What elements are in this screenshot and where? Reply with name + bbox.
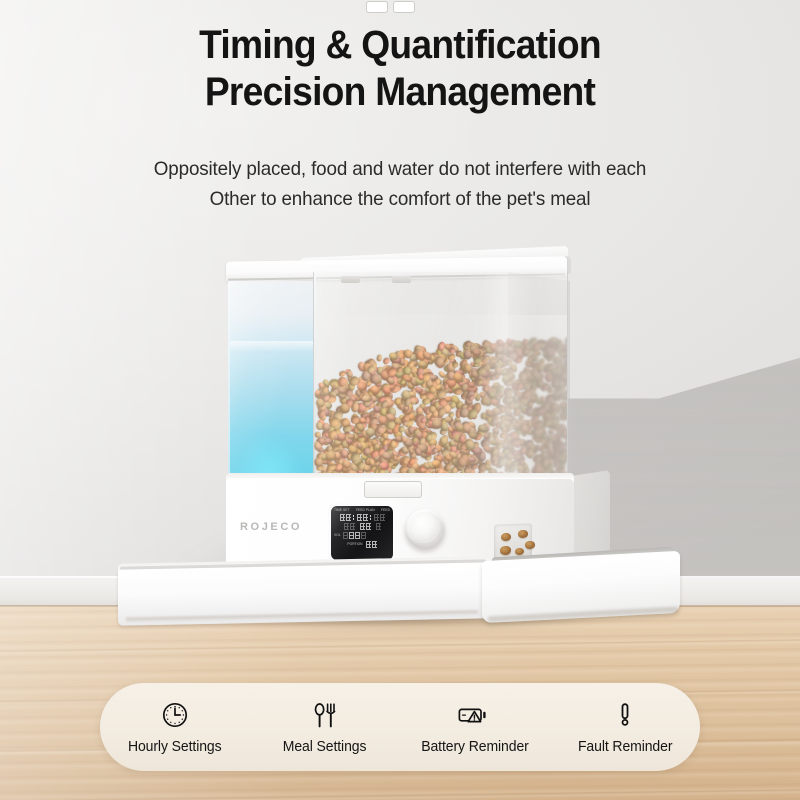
kibble-pellet (532, 355, 538, 363)
kibble-pellet (521, 338, 528, 345)
kibble-pellet (480, 397, 487, 405)
kibble-pellet (315, 431, 321, 437)
feature-label: Battery Reminder (421, 739, 528, 755)
kibble-pellet (348, 433, 355, 438)
lcd-display[interactable]: TIME SET FEED PLAN FEED VOL (331, 506, 393, 560)
water-tank (230, 281, 316, 480)
falling-kibble-pellet (518, 530, 528, 538)
product-marketing-image: Timing & Quantification Precision Manage… (0, 0, 800, 800)
feature-label: Hourly Settings (128, 739, 222, 755)
feature-meal-settings[interactable]: Meal Settings (250, 700, 400, 755)
kibble-fill (314, 320, 567, 480)
feature-battery-reminder[interactable]: Battery Reminder (400, 700, 550, 755)
brand-logo: ROJECO (240, 521, 302, 533)
lcd-label-feed: FEED (381, 509, 390, 512)
kibble-pellet (564, 358, 567, 367)
latch-slider-tab[interactable] (394, 2, 414, 12)
lcd-label-vol: VOL (334, 534, 341, 537)
kibble-pellet (512, 437, 522, 445)
kibble-pellet (438, 344, 443, 351)
kibble-pellet (493, 381, 501, 388)
kibble-pellet (371, 417, 379, 424)
battery-warning-icon (458, 700, 492, 730)
exclamation-icon (610, 700, 640, 730)
lcd-label-time-set: TIME SET (334, 509, 350, 512)
latch-slider-tab[interactable] (367, 2, 387, 12)
knob-face (409, 512, 440, 543)
falling-kibble-pellet (500, 546, 511, 555)
control-knob[interactable] (405, 509, 445, 549)
lcd-label-portion: PORTION (347, 543, 362, 546)
lcd-digit-row (334, 523, 390, 530)
feature-hourly-settings[interactable]: Hourly Settings (100, 700, 250, 755)
hopper-lid-clip[interactable] (392, 276, 411, 283)
kibble-pellet (534, 350, 541, 355)
kibble-pellet (495, 346, 504, 354)
kibble-pellet (361, 395, 371, 402)
hopper-latch[interactable] (364, 481, 422, 498)
kibble-pellet (531, 371, 538, 379)
kibble-pellet (315, 421, 323, 430)
kibble-pellet (458, 435, 465, 443)
spoon-fork-icon (310, 700, 340, 730)
kibble-pellet (454, 388, 463, 395)
food-hopper (313, 272, 568, 481)
feature-label: Fault Reminder (578, 739, 672, 755)
feature-fault-reminder[interactable]: Fault Reminder (550, 700, 700, 755)
kibble-pellet (490, 375, 497, 381)
kibble-pellet (430, 375, 438, 380)
kibble-pellet (515, 454, 524, 461)
feature-bar: Hourly Settings Meal Settings (100, 683, 700, 771)
lcd-label-feed-plan: FEED PLAN (356, 509, 375, 512)
clock-icon (160, 700, 190, 730)
kibble-pellet (499, 421, 505, 429)
falling-kibble-pellet (525, 541, 535, 549)
pet-feeder-product: ROJECO TIME SET FEED PLAN FEED (0, 0, 800, 800)
water-tank-gloss (230, 281, 316, 480)
feature-label: Meal Settings (283, 739, 367, 755)
hopper-lid-clip[interactable] (341, 276, 360, 283)
lcd-digit-row (334, 514, 390, 521)
